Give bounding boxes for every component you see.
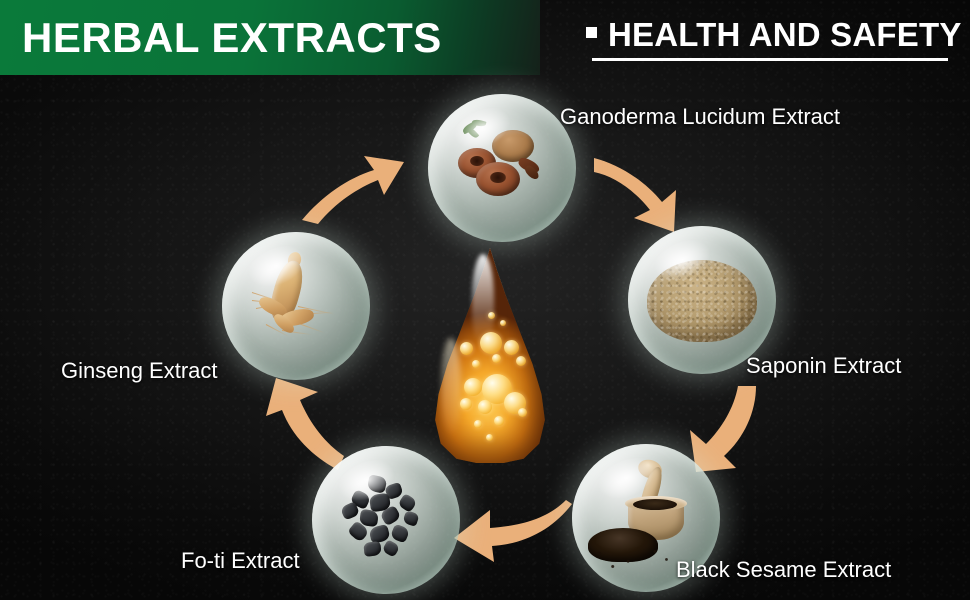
header: HERBAL EXTRACTS HEALTH AND SAFETY	[0, 0, 970, 76]
label-ginseng: Ginseng Extract	[61, 358, 218, 384]
label-foti: Fo-ti Extract	[181, 548, 300, 574]
infographic-canvas: HERBAL EXTRACTS HEALTH AND SAFETY	[0, 0, 970, 600]
label-black-sesame: Black Sesame Extract	[676, 557, 891, 583]
header-right-group: HEALTH AND SAFETY	[586, 16, 962, 54]
bubble-saponin	[628, 226, 776, 374]
label-saponin: Saponin Extract	[746, 353, 901, 379]
label-ganoderma: Ganoderma Lucidum Extract	[560, 104, 840, 130]
ginseng-root-icon	[222, 232, 370, 380]
arrow-ginseng-to-ganoderma	[300, 140, 410, 225]
bubble-foti	[312, 446, 460, 594]
page-title-left: HERBAL EXTRACTS	[22, 14, 442, 62]
title-underline	[592, 58, 948, 61]
reishi-mushroom-icon	[428, 94, 576, 242]
square-bullet-icon	[586, 27, 597, 38]
bubble-ganoderma	[428, 94, 576, 242]
bubble-ginseng	[222, 232, 370, 380]
root-chunks-icon	[312, 446, 460, 594]
oil-droplet-graphic	[434, 248, 546, 463]
powder-mound-icon	[628, 226, 776, 374]
page-title-right: HEALTH AND SAFETY	[608, 16, 962, 54]
arrow-sesame-to-foti	[452, 498, 576, 564]
